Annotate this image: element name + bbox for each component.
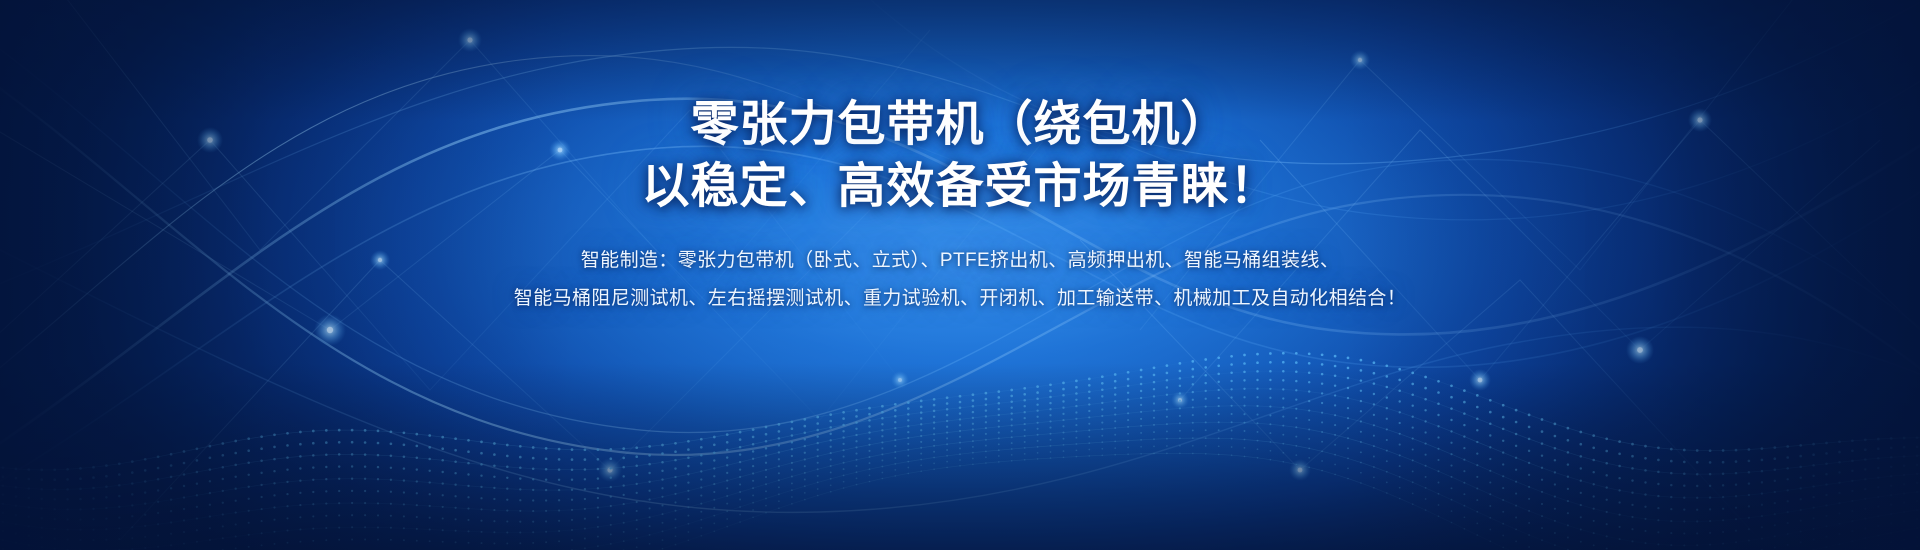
subtitle-line-2: 智能马桶阻尼测试机、左右摇摆测试机、重力试验机、开闭机、加工输送带、机械加工及自… — [514, 280, 1406, 319]
subtitle-block: 智能制造：零张力包带机（卧式、立式）、PTFE挤出机、高频押出机、智能马桶组装线… — [514, 242, 1406, 320]
promo-banner: 零张力包带机（绕包机） 以稳定、高效备受市场青睐！ 智能制造：零张力包带机（卧式… — [0, 0, 1920, 550]
banner-content: 零张力包带机（绕包机） 以稳定、高效备受市场青睐！ 智能制造：零张力包带机（卧式… — [0, 0, 1920, 550]
subtitle-line-1: 智能制造：零张力包带机（卧式、立式）、PTFE挤出机、高频押出机、智能马桶组装线… — [514, 242, 1406, 281]
headline-primary: 零张力包带机（绕包机） — [690, 98, 1229, 152]
headline-secondary: 以稳定、高效备受市场青睐！ — [641, 160, 1278, 214]
